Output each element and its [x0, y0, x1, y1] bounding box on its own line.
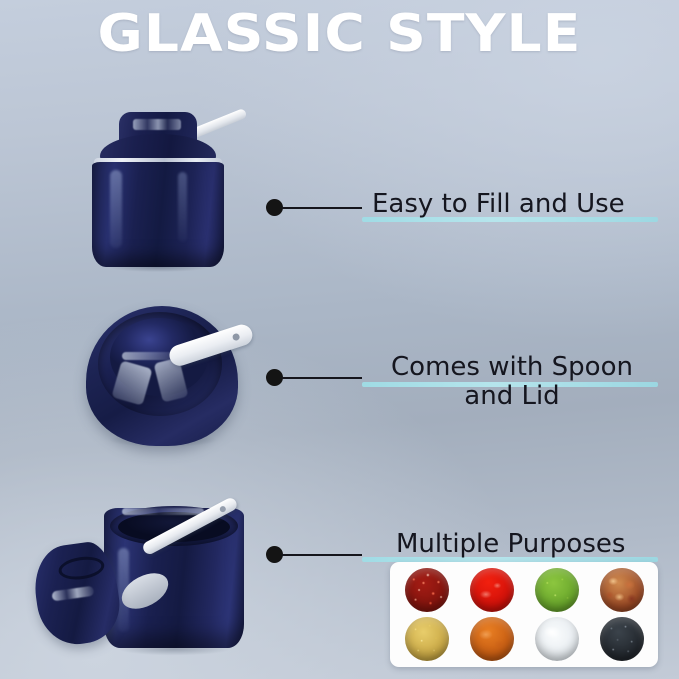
callout-dot — [266, 199, 283, 216]
spice-grid-card — [390, 562, 658, 667]
spoon-handle-icon — [188, 108, 247, 140]
spice-bowl-sugar — [535, 617, 579, 661]
jar-highlight — [122, 352, 176, 360]
callout-leader-line — [282, 554, 362, 556]
jar-body — [92, 162, 224, 267]
spice-bowl-chili-flakes — [405, 568, 449, 612]
callout-label-line1: Comes with Spoon — [362, 353, 662, 382]
callout-leader-line — [282, 207, 362, 209]
product-photo-jar-closed-front — [78, 112, 238, 272]
spice-bowl-mustard-seeds — [405, 617, 449, 661]
callout-label-line2: and Lid — [362, 382, 662, 411]
callout-label: Easy to Fill and Use — [372, 190, 625, 218]
product-photo-jar-top-view — [82, 302, 260, 454]
spice-bowl-chili-powder — [470, 617, 514, 661]
jar-highlight — [122, 508, 204, 515]
callout-dot — [266, 369, 283, 386]
spice-bowl-matcha-powder — [535, 568, 579, 612]
product-photo-jar-open — [26, 500, 276, 679]
callout-leader-line — [282, 377, 362, 379]
spice-bowl-dried-chili — [600, 568, 644, 612]
page-title: GLASSIC STYLE — [0, 4, 679, 64]
callout-label-group: Comes with Spoon and Lid — [362, 353, 662, 411]
product-infographic: GLASSIC STYLE Easy to Fill an — [0, 0, 679, 679]
callout-dot — [266, 546, 283, 563]
spice-bowl-red-sauce — [470, 568, 514, 612]
spice-bowl-black-sesame — [600, 617, 644, 661]
callout-label: Multiple Purposes — [396, 530, 625, 558]
